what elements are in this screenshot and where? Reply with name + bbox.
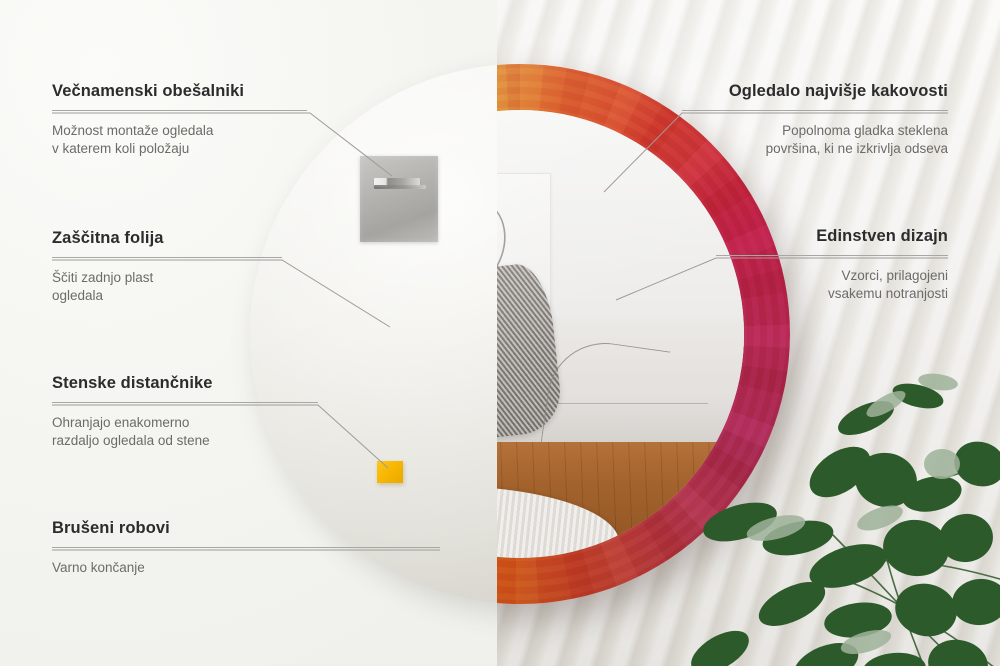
callout-title: Edinstven dizajn: [716, 227, 948, 246]
callout-description: Ščiti zadnjo plast ogledala: [52, 269, 282, 305]
callout-description: Vzorci, prilagojeni vsakemu notranjosti: [716, 267, 948, 303]
callout-description: Ohranjajo enakomerno razdaljo ogledala o…: [52, 414, 318, 450]
product-infographic: Večnamenski obešalniki Možnost montaže o…: [0, 0, 1000, 666]
callout-title: Zaščitna folija: [52, 229, 282, 248]
callout-title: Ogledalo najvišje kakovosti: [682, 82, 948, 101]
callout-divider: [52, 402, 318, 403]
callout-unique-design: Edinstven dizajn Vzorci, prilagojeni vsa…: [716, 227, 948, 303]
callout-divider: [52, 547, 440, 548]
callout-title: Brušeni robovi: [52, 519, 440, 538]
decorative-plant: [680, 352, 1000, 666]
callout-title: Stenske distančnike: [52, 374, 318, 393]
callout-multipurpose-hangers: Večnamenski obešalniki Možnost montaže o…: [52, 82, 307, 158]
callout-description: Popolnoma gladka steklena površina, ki n…: [682, 122, 948, 158]
callout-description: Možnost montaže ogledala v katerem koli …: [52, 122, 307, 158]
hanger-slot-shadow: [374, 185, 426, 189]
multipurpose-hanger-plate: [360, 156, 438, 242]
callout-divider: [52, 110, 307, 111]
callout-divider: [682, 110, 948, 111]
callout-title: Večnamenski obešalniki: [52, 82, 307, 101]
callout-highest-quality-mirror: Ogledalo najvišje kakovosti Popolnoma gl…: [682, 82, 948, 158]
callout-divider: [52, 257, 282, 258]
callout-polished-edges: Brušeni robovi Varno končanje: [52, 519, 440, 577]
callout-divider: [716, 255, 948, 256]
callout-wall-spacers: Stenske distančnike Ohranjajo enakomerno…: [52, 374, 318, 450]
callout-description: Varno končanje: [52, 559, 440, 577]
callout-protective-foil: Zaščitna folija Ščiti zadnjo plast ogled…: [52, 229, 282, 305]
wall-spacer-block: [377, 461, 403, 483]
